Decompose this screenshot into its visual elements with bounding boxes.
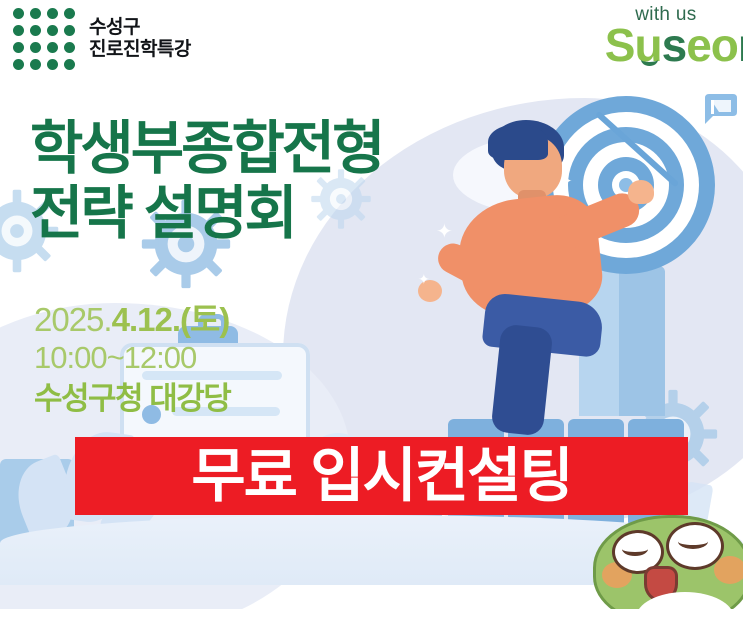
banner-text: 무료 입시컨설팅 [191, 447, 571, 506]
gear-icon [0, 188, 60, 274]
dot-grid-icon [13, 8, 75, 70]
brand-letter-s1: S [605, 19, 635, 71]
frog-lash-right [678, 534, 708, 549]
suseong-brand-logo: with us Suseon [605, 4, 743, 68]
brand-letter-o: o [711, 19, 738, 71]
event-poster: ✦ ✦ ✦ 수성구 [0, 0, 743, 627]
sparkle-icon: ✦ [418, 272, 430, 286]
smile-icon [641, 53, 658, 66]
sparkle-icon: ✦ [560, 174, 573, 189]
person-hand-pointing [628, 180, 654, 204]
gear-icon [310, 168, 372, 230]
person-hair-front [488, 124, 548, 160]
brand-letter-n: n [738, 19, 743, 71]
gear-icon [140, 198, 232, 290]
person-pointing-at-target: ✦ ✦ ✦ [452, 112, 642, 402]
flag-icon [699, 90, 741, 132]
bottom-white-strip [0, 609, 743, 627]
brand-letter-e: e [686, 19, 711, 71]
free-consulting-banner: 무료 입시컨설팅 [75, 437, 688, 515]
logo-line-2: 진로진학특강 [89, 39, 191, 61]
brand-letter-s2: s [662, 19, 687, 71]
suseong-department-logo: 수성구 진로진학특강 [13, 8, 191, 70]
sparkle-icon: ✦ [436, 222, 453, 242]
logo-line-1: 수성구 [89, 17, 191, 39]
brand-wordmark: Suseon [605, 24, 743, 68]
logo-left-text: 수성구 진로진학특강 [89, 17, 191, 62]
poster-header: 수성구 진로진학특강 with us Suseon [0, 0, 743, 88]
frog-lash-left [622, 542, 648, 556]
